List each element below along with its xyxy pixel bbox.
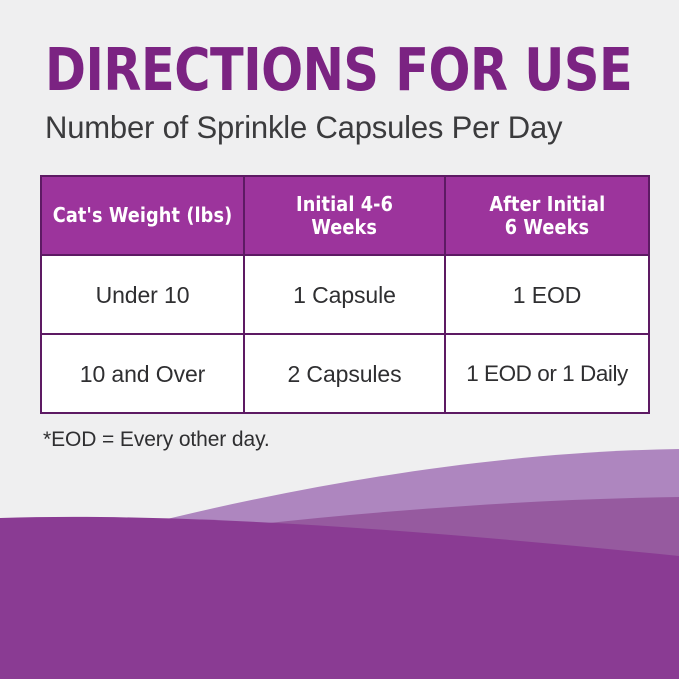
column-header-after-line2: 6 Weeks — [505, 216, 589, 239]
heading-block: DIRECTIONS FOR USE Number of Sprinkle Ca… — [45, 40, 645, 144]
table-header-row: Cat's Weight (lbs) Initial 4-6 Weeks Aft… — [41, 176, 649, 255]
directions-for-use-panel: DIRECTIONS FOR USE Number of Sprinkle Ca… — [0, 0, 679, 679]
table-row: Under 10 1 Capsule 1 EOD — [41, 255, 649, 334]
footnote-eod: *EOD = Every other day. — [43, 428, 270, 452]
cell-initial-10andover: 2 Capsules — [244, 334, 445, 413]
cell-after-10andover: 1 EOD or 1 Daily — [445, 334, 649, 413]
table-row: 10 and Over 2 Capsules 1 EOD or 1 Daily — [41, 334, 649, 413]
column-header-initial-line2: Weeks — [312, 216, 378, 239]
cell-weight-under10: Under 10 — [41, 255, 244, 334]
wave-layer-medium — [0, 497, 679, 679]
page-title: DIRECTIONS FOR USE — [45, 40, 603, 99]
dosage-table: Cat's Weight (lbs) Initial 4-6 Weeks Aft… — [40, 175, 650, 414]
column-header-initial: Initial 4-6 Weeks — [244, 176, 445, 255]
column-header-after: After Initial 6 Weeks — [445, 176, 649, 255]
column-header-weight: Cat's Weight (lbs) — [41, 176, 244, 255]
wave-layer-light — [0, 449, 679, 679]
page-subtitle: Number of Sprinkle Capsules Per Day — [45, 110, 636, 144]
column-header-weight-label: Cat's Weight (lbs) — [53, 204, 233, 227]
column-header-after-line1: After Initial — [489, 193, 605, 216]
cell-initial-under10: 1 Capsule — [244, 255, 445, 334]
column-header-initial-line1: Initial 4-6 — [296, 193, 393, 216]
wave-layer-dark — [0, 517, 679, 679]
cell-weight-10andover: 10 and Over — [41, 334, 244, 413]
cell-after-under10: 1 EOD — [445, 255, 649, 334]
